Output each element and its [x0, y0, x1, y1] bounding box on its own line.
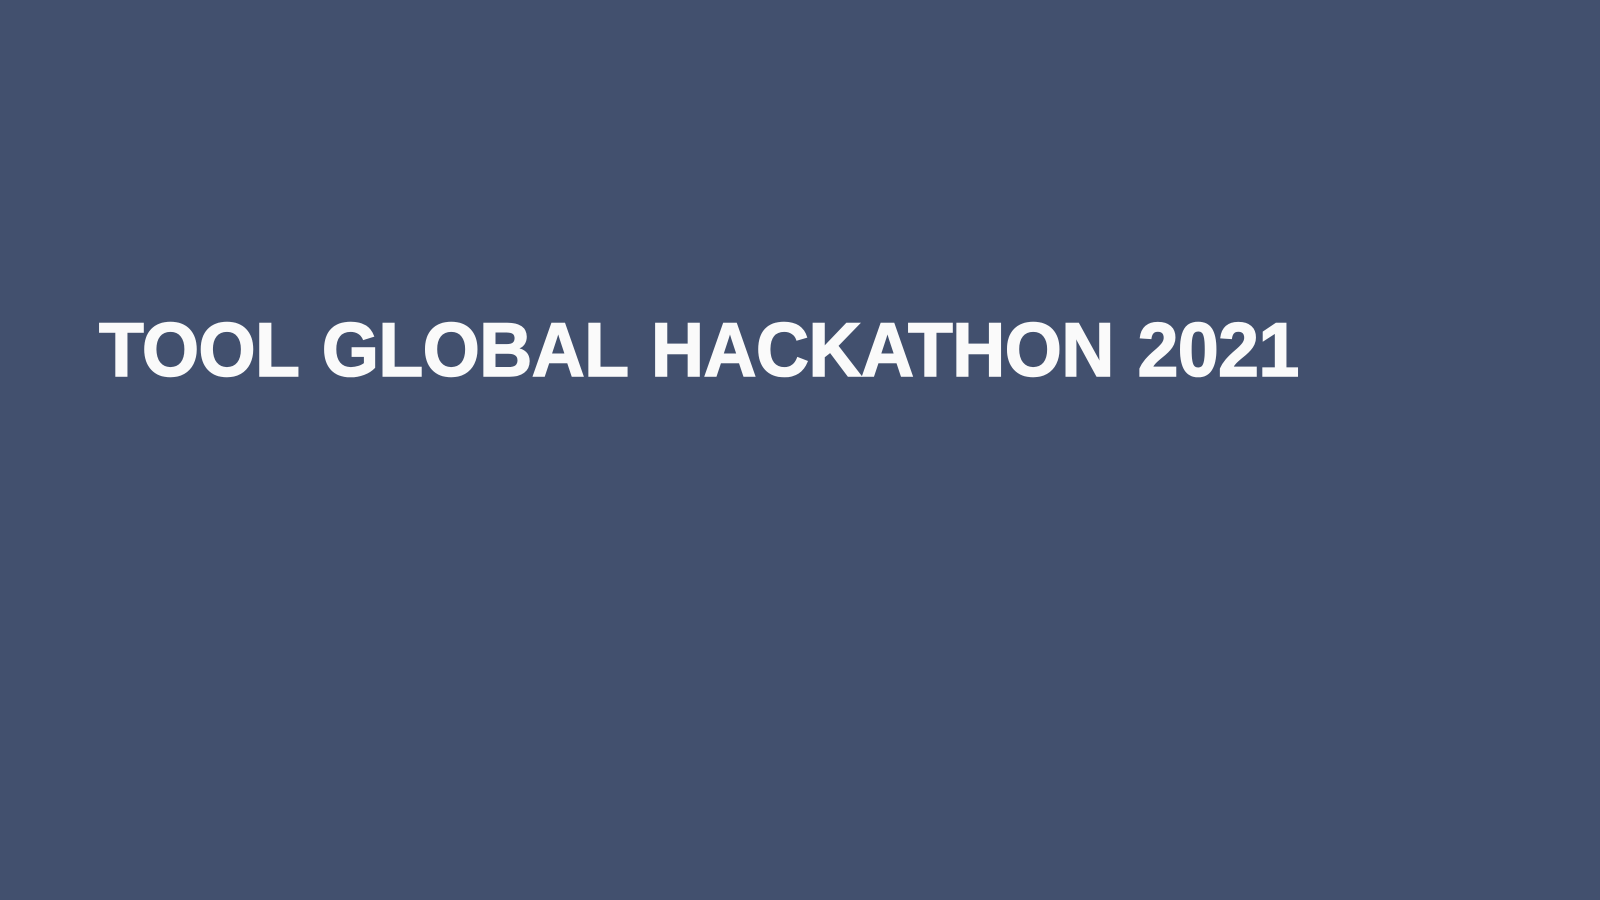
- page-title: TOOL GLOBAL HACKATHON 2021: [99, 310, 1299, 392]
- title-block: TOOL GLOBAL HACKATHON 2021: [99, 310, 1519, 392]
- slide-canvas: TOOL GLOBAL HACKATHON 2021: [0, 0, 1600, 900]
